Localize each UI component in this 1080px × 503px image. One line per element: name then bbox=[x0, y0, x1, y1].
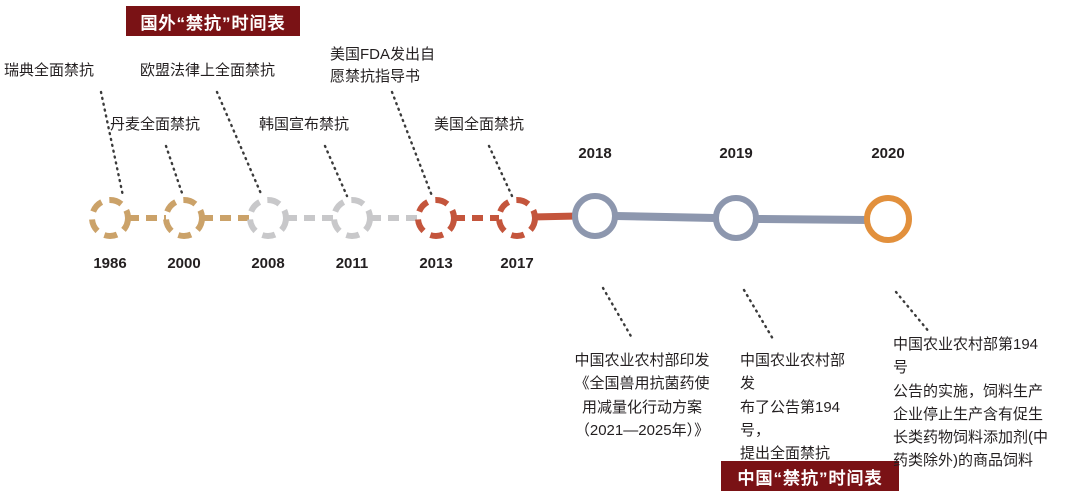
description-2020-line-5: 药类除外)的商品饲料 bbox=[893, 449, 1053, 472]
timeline-infographic: 国外“禁抗”时间表 中国“禁抗”时间表 瑞典全面禁抗 丹麦全面禁抗 欧盟法律上全… bbox=[0, 0, 1080, 503]
year-label-2008: 2008 bbox=[233, 255, 303, 272]
year-label-2020: 2020 bbox=[853, 145, 923, 162]
description-2018-line-4: （2021—2025年）》 bbox=[566, 419, 718, 442]
year-label-1986: 1986 bbox=[75, 255, 145, 272]
leader-line-2013 bbox=[392, 92, 432, 196]
event-label-2017: 美国全面禁抗 bbox=[434, 114, 524, 136]
description-2020-line-1: 中国农业农村部第194号 bbox=[893, 333, 1053, 380]
year-label-2018: 2018 bbox=[560, 145, 630, 162]
year-label-2011: 2011 bbox=[317, 255, 387, 272]
event-label-2011: 韩国宣布禁抗 bbox=[259, 114, 349, 136]
node-circle-2020[interactable] bbox=[867, 198, 909, 240]
year-label-2017: 2017 bbox=[482, 255, 552, 272]
year-label-2000: 2000 bbox=[149, 255, 219, 272]
leader-line-2017 bbox=[489, 146, 512, 196]
event-label-2008: 欧盟法律上全面禁抗 bbox=[140, 60, 275, 82]
description-block-2019: 中国农业农村部发 布了公告第194号， 提出全面禁抗 bbox=[740, 349, 858, 465]
node-circle-2013[interactable] bbox=[418, 200, 454, 236]
connector-2017-2018 bbox=[532, 216, 578, 217]
leader-lines-top bbox=[101, 92, 512, 196]
description-2019-line-1: 中国农业农村部发 bbox=[740, 349, 858, 396]
leader-line-2008 bbox=[217, 92, 262, 196]
event-label-2013-line-2: 愿禁抗指导书 bbox=[330, 66, 435, 88]
leader-line-2019 bbox=[744, 290, 773, 339]
node-circle-2018[interactable] bbox=[575, 196, 615, 236]
node-circle-2017[interactable] bbox=[499, 200, 535, 236]
node-circle-2011[interactable] bbox=[334, 200, 370, 236]
description-2018-line-2: 《全国兽用抗菌药使 bbox=[566, 372, 718, 395]
event-label-2000: 丹麦全面禁抗 bbox=[110, 114, 200, 136]
description-2018-line-1: 中国农业农村部印发 bbox=[566, 349, 718, 372]
description-2020-line-4: 长类药物饲料添加剂(中 bbox=[893, 426, 1053, 449]
leader-line-2000 bbox=[166, 146, 183, 196]
node-circle-2008[interactable] bbox=[250, 200, 286, 236]
node-circle-2000[interactable] bbox=[166, 200, 202, 236]
description-block-2020: 中国农业农村部第194号 公告的实施，饲料生产 企业停止生产含有促生 长类药物饲… bbox=[893, 333, 1053, 473]
description-2019-line-2: 布了公告第194号， bbox=[740, 396, 858, 443]
leader-line-2018 bbox=[603, 288, 632, 338]
year-label-2013: 2013 bbox=[401, 255, 471, 272]
connector-2019-2020 bbox=[757, 219, 868, 220]
node-circle-1986[interactable] bbox=[92, 200, 128, 236]
connector-2018-2019 bbox=[616, 216, 715, 218]
event-label-1986: 瑞典全面禁抗 bbox=[4, 60, 94, 82]
event-label-2013-line-1: 美国FDA发出自 bbox=[330, 44, 435, 66]
event-label-2013: 美国FDA发出自 愿禁抗指导书 bbox=[330, 44, 435, 88]
year-label-2019: 2019 bbox=[701, 145, 771, 162]
leader-line-2020 bbox=[896, 292, 930, 333]
node-circle-2019[interactable] bbox=[716, 198, 756, 238]
description-2019-line-3: 提出全面禁抗 bbox=[740, 442, 858, 465]
banner-foreign-timeline: 国外“禁抗”时间表 bbox=[126, 6, 300, 36]
leader-line-2011 bbox=[325, 146, 347, 196]
description-2020-line-2: 公告的实施，饲料生产 bbox=[893, 380, 1053, 403]
description-block-2018: 中国农业农村部印发 《全国兽用抗菌药使 用减量化行动方案 （2021—2025年… bbox=[566, 349, 718, 442]
leader-lines-bottom bbox=[603, 288, 930, 339]
banner-china-timeline: 中国“禁抗”时间表 bbox=[721, 461, 899, 491]
description-2020-line-3: 企业停止生产含有促生 bbox=[893, 403, 1053, 426]
leader-line-1986 bbox=[101, 92, 123, 196]
description-2018-line-3: 用减量化行动方案 bbox=[566, 396, 718, 419]
